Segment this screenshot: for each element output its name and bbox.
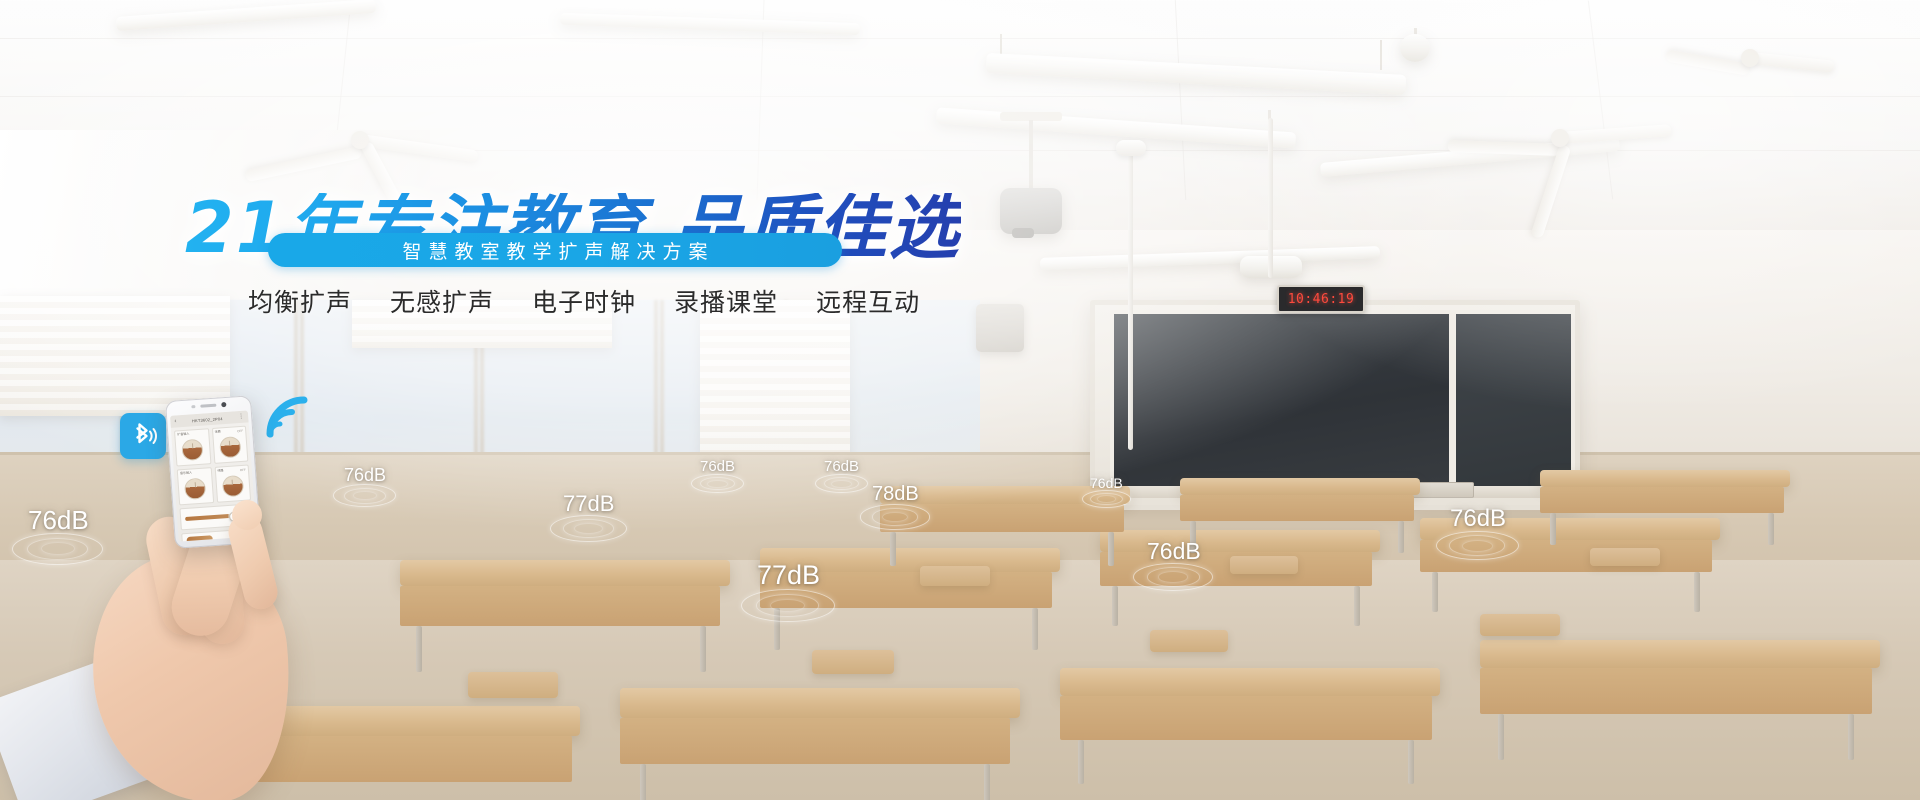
projector-mount [1029,120,1033,190]
student-chair [1150,630,1228,652]
clock-time: 10:46:19 [1288,292,1355,307]
student-desk [1060,668,1440,780]
wifi-waves-icon [264,388,322,440]
bluetooth-icon [120,413,166,459]
feature-list: 均衡扩声无感扩声电子时钟录播课堂远程互动 [248,283,920,319]
feature-item: 电子时钟 [532,283,636,319]
front-camera [221,402,226,407]
earpiece-speaker [200,404,216,408]
status-bar-fill [186,535,212,541]
mic-pole [1128,150,1133,450]
proximity-sensor [191,405,195,408]
feature-item: 远程互动 [816,283,920,319]
card-label: 扩音输入 [177,431,206,436]
student-desk [180,706,580,800]
projector [1000,188,1062,234]
student-desk [880,486,1130,566]
projector-lens [1012,228,1034,238]
student-chair [812,650,894,674]
volume-knob[interactable] [219,436,241,458]
volume-knob[interactable] [181,439,203,461]
ceiling-fan [240,110,480,170]
app-title: HKT3602_2P04 [192,416,223,423]
feature-item: 无感扩声 [390,283,494,319]
student-desk [1480,640,1880,758]
subtitle-pill: 智慧教室教学扩声解决方案 [268,233,842,267]
student-desk [400,560,730,670]
subtitle-text: 智慧教室教学扩声解决方案 [395,237,714,264]
volume-knob[interactable] [184,478,206,500]
student-chair [920,566,990,586]
student-chair [468,672,558,698]
student-chair [1480,614,1560,636]
volume-knob[interactable] [222,475,244,497]
fingertip [232,500,262,530]
student-desk [620,688,1020,800]
banner-stage: 10:46:19 76dB76dB77dB76dB76dB78dB76dB77d… [0,0,1920,800]
window-blind [700,300,850,460]
blackboard-panel [1452,310,1575,496]
mic-pole [1268,118,1273,278]
app-control-card[interactable]: 话筒OFF [211,426,248,464]
back-icon[interactable]: ‹ [174,418,176,424]
display-screen [1110,310,1453,496]
menu-icon[interactable]: ⋮ [238,414,244,420]
ceiling-speaker [1400,34,1430,62]
ceiling-fan [1440,108,1680,168]
student-chair [1230,556,1298,574]
app-control-card[interactable]: 线路OFF [214,465,251,503]
student-chair [1590,548,1660,566]
electronic-clock: 10:46:19 [1277,285,1365,313]
app-control-card[interactable]: 扩音输入 [174,428,211,466]
card-label: 音乐输入 [180,470,209,475]
light-rod [1380,40,1382,70]
feature-item: 录播课堂 [674,283,778,319]
card-badge: OFF [240,468,246,472]
app-control-card[interactable]: 音乐输入 [177,467,214,505]
wall-control-box [976,304,1024,352]
mic-head [1116,140,1146,156]
student-desk [1180,478,1420,556]
card-badge: OFF [237,429,243,433]
ceiling-fan [1660,36,1840,80]
feature-item: 均衡扩声 [248,283,352,319]
student-desk [1540,470,1790,548]
